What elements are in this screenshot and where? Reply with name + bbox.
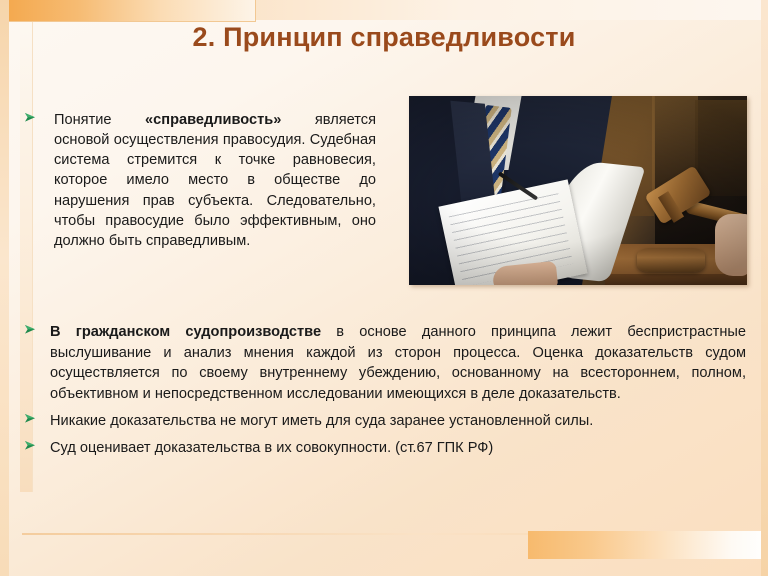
green-arrow-bullet-icon	[24, 324, 38, 336]
left-text-block: Понятие «справедливость» является осново…	[24, 110, 376, 251]
list-item: Понятие «справедливость» является осново…	[24, 110, 376, 251]
text-after-bold: Никакие доказательства не могут иметь дл…	[50, 413, 593, 429]
slide-title: 2. Принцип справедливости	[0, 22, 768, 53]
slide-canvas: 2. Принцип справедливости	[0, 0, 768, 576]
right-edge-strip	[761, 0, 768, 576]
paragraph: Суд оценивает доказательства в их совоку…	[50, 438, 746, 459]
bold-term: В гражданском судопроизводстве	[50, 324, 321, 340]
bold-term: «справедливость»	[145, 112, 281, 128]
paragraph: Понятие «справедливость» является осново…	[54, 110, 376, 251]
bottom-text-block: В гражданском судопроизводстве в основе …	[24, 322, 746, 464]
paragraph: В гражданском судопроизводстве в основе …	[50, 322, 746, 405]
list-item: Суд оценивает доказательства в их совоку…	[24, 438, 746, 459]
green-arrow-bullet-icon	[24, 112, 38, 124]
text-after-bold: Суд оценивает доказательства в их совоку…	[50, 440, 493, 456]
text-after-bold: является основой осуществления правосуди…	[54, 112, 376, 249]
top-left-accent-box	[8, 0, 256, 22]
courtroom-gavel-photo	[409, 96, 747, 285]
green-arrow-bullet-icon	[24, 413, 38, 425]
left-edge-strip	[0, 0, 9, 576]
list-item: Никакие доказательства не могут иметь дл…	[24, 411, 746, 432]
bottom-right-accent-bar	[528, 531, 768, 559]
green-arrow-bullet-icon	[24, 440, 38, 452]
photo-vignette	[409, 96, 747, 285]
list-item: В гражданском судопроизводстве в основе …	[24, 322, 746, 405]
paragraph: Никакие доказательства не могут иметь дл…	[50, 411, 746, 432]
text-before-bold: Понятие	[54, 112, 145, 128]
